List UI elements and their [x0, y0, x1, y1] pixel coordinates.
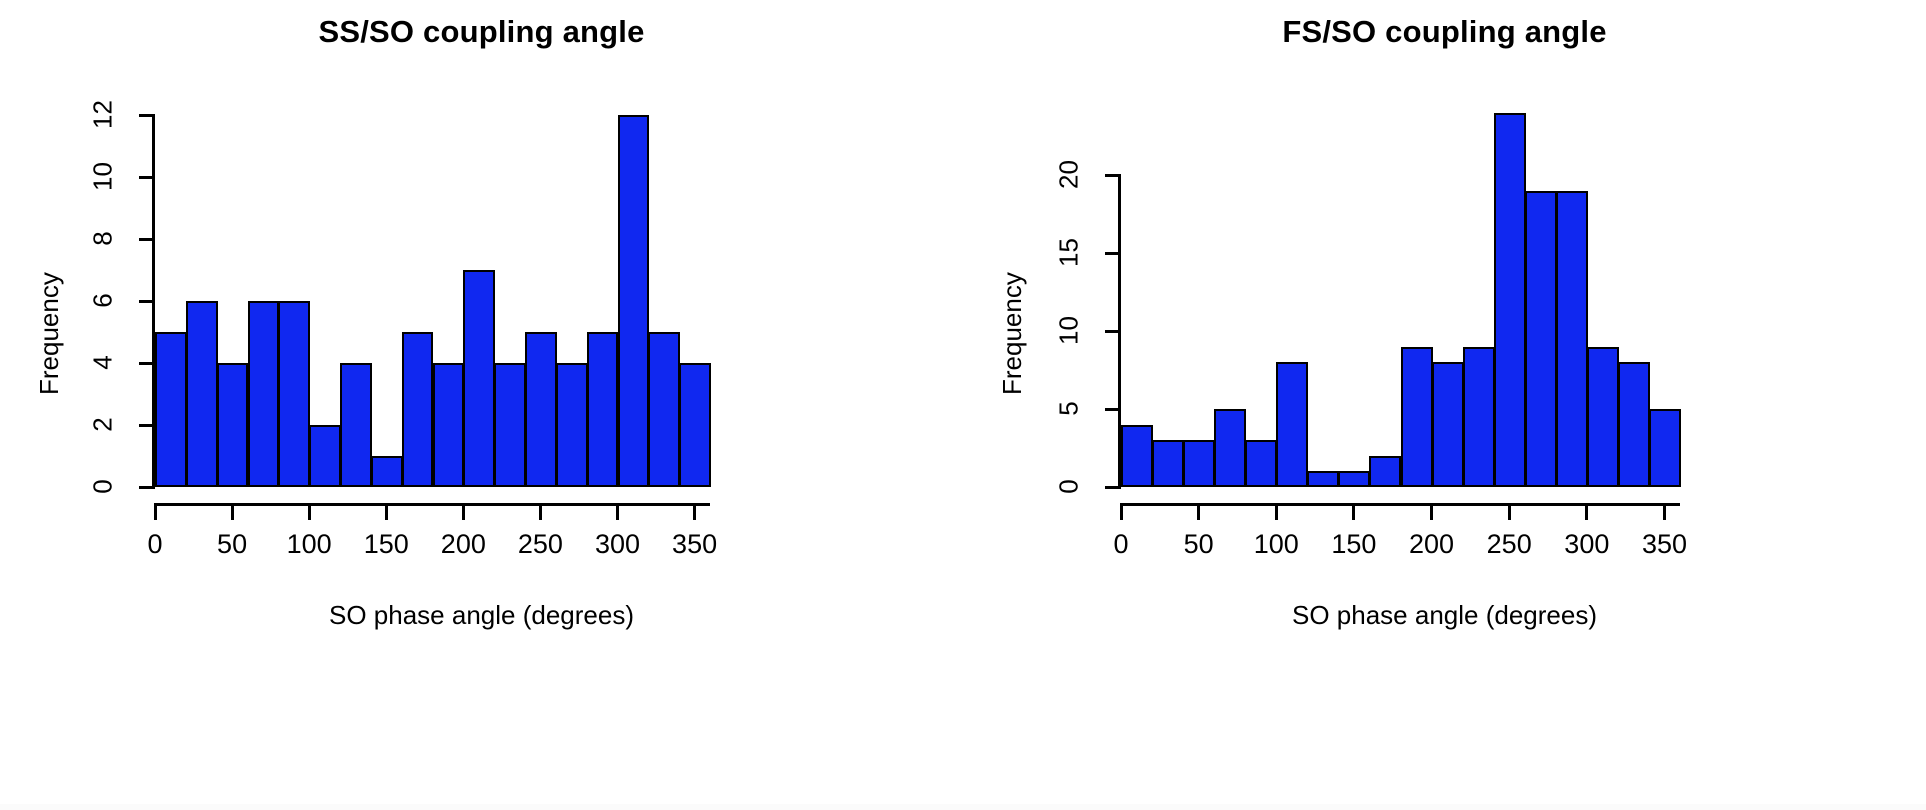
y-axis-tick-label: 12 [88, 85, 119, 145]
y-axis-tick-label: 8 [88, 209, 119, 269]
x-axis-tick-label: 150 [346, 529, 426, 560]
x-axis-ss-so: 050100150200250300350 [155, 503, 710, 563]
histogram-bar [1649, 409, 1681, 487]
x-axis-tick-label: 0 [1081, 529, 1161, 560]
histogram-bar [433, 363, 465, 487]
x-axis-tick-label: 150 [1314, 529, 1394, 560]
x-axis-label-fs-so: SO phase angle (degrees) [963, 600, 1926, 631]
y-axis-tick-label: 10 [1054, 301, 1085, 361]
x-axis-tick-label: 350 [655, 529, 735, 560]
y-axis-tick-label: 0 [88, 457, 119, 517]
x-axis-tick [539, 503, 542, 520]
x-axis-tick [616, 503, 619, 520]
x-axis-tick [385, 503, 388, 520]
x-axis-tick [231, 503, 234, 520]
histogram-bar [155, 332, 187, 487]
y-axis-tick [139, 176, 155, 179]
y-axis-label-ss-so: Frequency [34, 272, 65, 395]
y-axis-tick [139, 300, 155, 303]
histogram-bar [1152, 440, 1184, 487]
x-axis-tick [1197, 503, 1200, 520]
y-axis-tick-label: 20 [1054, 145, 1085, 205]
histogram-bar [340, 363, 372, 487]
histogram-bar [1525, 191, 1557, 487]
histogram-bar [648, 332, 680, 487]
plot-area-ss-so [155, 87, 710, 487]
histogram-bar [186, 301, 218, 487]
y-axis-tick [139, 362, 155, 365]
x-axis-tick [1275, 503, 1278, 520]
x-axis-tick-label: 300 [1547, 529, 1627, 560]
x-axis-tick-label: 350 [1624, 529, 1704, 560]
y-axis-tick-label: 10 [88, 147, 119, 207]
histogram-bar [1432, 362, 1464, 487]
y-axis-tick [139, 424, 155, 427]
x-axis-tick [1508, 503, 1511, 520]
histogram-bar [1121, 425, 1153, 487]
y-axis-tick-label: 5 [1054, 379, 1085, 439]
x-axis-spine [1121, 503, 1680, 506]
histogram-bar [1463, 347, 1495, 487]
x-axis-tick-label: 50 [1159, 529, 1239, 560]
histogram-bar [371, 456, 403, 487]
histogram-bar [278, 301, 310, 487]
histogram-bar [494, 363, 526, 487]
y-axis-tick [1105, 486, 1121, 489]
plot-area-fs-so [1121, 87, 1680, 487]
x-axis-tick-label: 0 [115, 529, 195, 560]
chart-title-fs-so: FS/SO coupling angle [963, 14, 1926, 50]
histogram-bar [463, 270, 495, 487]
x-axis-tick [1430, 503, 1433, 520]
x-axis-tick [462, 503, 465, 520]
histogram-bar [1338, 471, 1370, 487]
histogram-bar [556, 363, 588, 487]
histogram-bar [1245, 440, 1277, 487]
y-axis-tick [1105, 252, 1121, 255]
histogram-bar [679, 363, 711, 487]
histogram-bar [1587, 347, 1619, 487]
x-axis-tick [693, 503, 696, 520]
histogram-bar [1401, 347, 1433, 487]
y-axis-tick [1105, 174, 1121, 177]
histogram-bar [1369, 456, 1401, 487]
x-axis-tick-label: 250 [500, 529, 580, 560]
histogram-bar [1183, 440, 1215, 487]
y-axis-tick-label: 15 [1054, 223, 1085, 283]
y-axis-label-fs-so: Frequency [997, 272, 1028, 395]
y-axis-tick-label: 4 [88, 333, 119, 393]
y-axis-tick [139, 486, 155, 489]
chart-title-ss-so: SS/SO coupling angle [0, 14, 963, 50]
histogram-bar [1618, 362, 1650, 487]
x-axis-tick-label: 200 [1392, 529, 1472, 560]
panel-fs-so: FS/SO coupling angle Frequency 05101520 … [963, 0, 1926, 810]
y-axis-tick-label: 6 [88, 271, 119, 331]
x-axis-tick [1663, 503, 1666, 520]
y-axis-tick-label: 2 [88, 395, 119, 455]
y-axis-tick [1105, 408, 1121, 411]
x-axis-tick-label: 50 [192, 529, 272, 560]
x-axis-label-ss-so: SO phase angle (degrees) [0, 600, 963, 631]
figure-bottom-edge [0, 804, 1926, 810]
x-axis-tick [1585, 503, 1588, 520]
x-axis-spine [155, 503, 710, 506]
histogram-bar [525, 332, 557, 487]
y-axis-tick [139, 114, 155, 117]
histogram-bar [1494, 113, 1526, 487]
y-axis-tick [1105, 330, 1121, 333]
histogram-bars-fs-so [1121, 87, 1680, 487]
histogram-bar [248, 301, 280, 487]
y-axis-tick-label: 0 [1054, 457, 1085, 517]
x-axis-tick-label: 250 [1469, 529, 1549, 560]
y-axis-fs-so: 05101520 [1101, 175, 1121, 487]
histogram-bar [1307, 471, 1339, 487]
x-axis-fs-so: 050100150200250300350 [1121, 503, 1680, 563]
x-axis-tick [154, 503, 157, 520]
x-axis-tick [1352, 503, 1355, 520]
y-axis-ss-so: 024681012 [135, 115, 155, 487]
histogram-bar [587, 332, 619, 487]
histogram-bar [309, 425, 341, 487]
x-axis-tick [308, 503, 311, 520]
histogram-bar [217, 363, 249, 487]
histogram-bar [1556, 191, 1588, 487]
x-axis-tick-label: 100 [1236, 529, 1316, 560]
panel-ss-so: SS/SO coupling angle Frequency 024681012… [0, 0, 963, 810]
x-axis-tick-label: 100 [269, 529, 349, 560]
x-axis-tick [1120, 503, 1123, 520]
histogram-bars-ss-so [155, 87, 710, 487]
histogram-bar [1214, 409, 1246, 487]
histogram-bar [618, 115, 650, 487]
histogram-bar [402, 332, 434, 487]
x-axis-tick-label: 300 [578, 529, 658, 560]
y-axis-tick [139, 238, 155, 241]
x-axis-tick-label: 200 [423, 529, 503, 560]
figure-canvas: SS/SO coupling angle Frequency 024681012… [0, 0, 1926, 810]
histogram-bar [1276, 362, 1308, 487]
